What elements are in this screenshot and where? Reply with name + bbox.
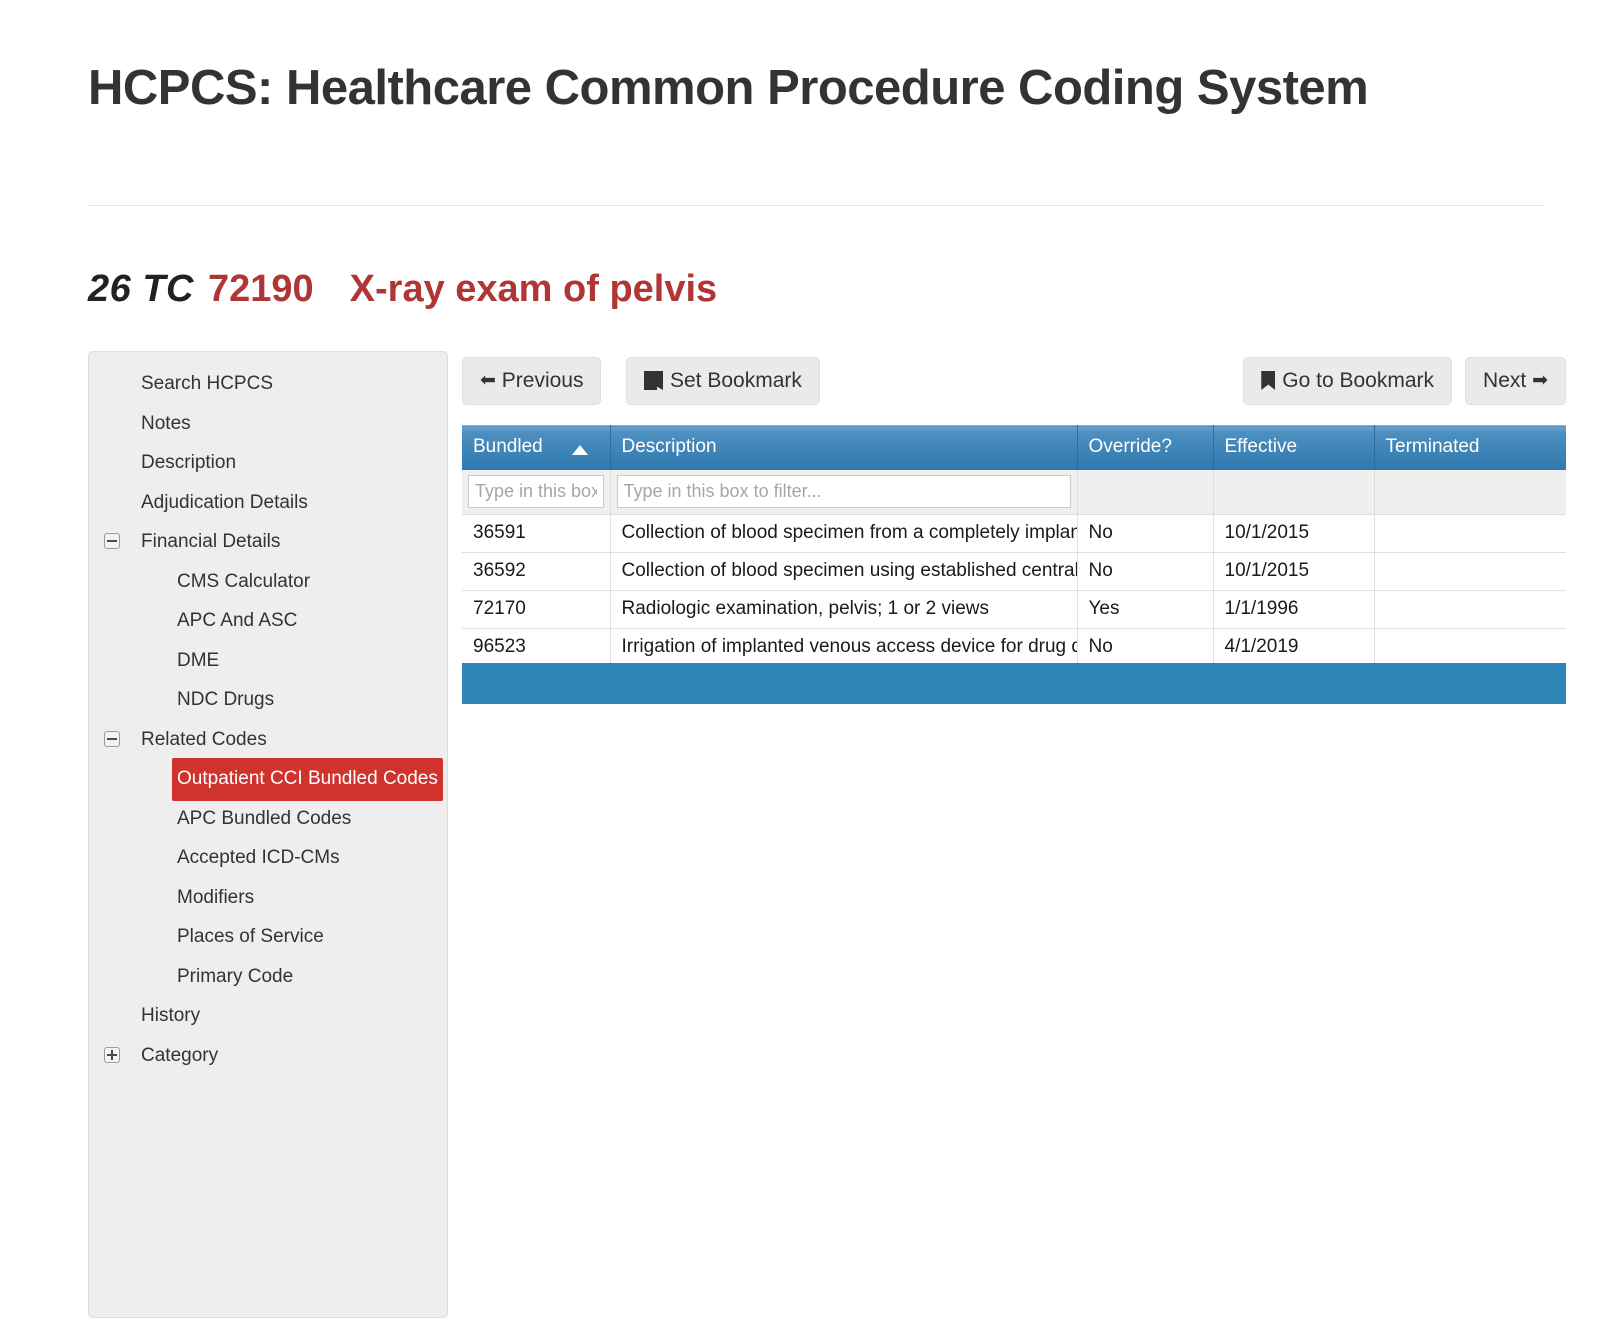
sidebar-item-label: Modifiers [172, 877, 259, 920]
previous-button[interactable]: ⬅ Previous [462, 357, 601, 405]
goto-bookmark-button-label: Go to Bookmark [1282, 369, 1434, 392]
sidebar-item-modifiers[interactable]: Modifiers [89, 877, 447, 917]
table-row[interactable]: 96523Irrigation of implanted venous acce… [462, 628, 1566, 666]
sidebar-item-label: Primary Code [172, 956, 298, 999]
sidebar-item-search-hcpcs[interactable]: Search HCPCS [89, 363, 447, 403]
sidebar-item-label: APC Bundled Codes [172, 798, 356, 841]
cell-override: No [1077, 514, 1213, 552]
sidebar-item-outpatient-cci-bundled-codes[interactable]: Outpatient CCI Bundled Codes [89, 758, 447, 798]
bookmark-icon [1261, 371, 1275, 390]
table-row[interactable]: 36592Collection of blood specimen using … [462, 552, 1566, 590]
cell-terminated [1374, 514, 1566, 552]
cell-description: Irrigation of implanted venous access de… [610, 628, 1077, 666]
sidebar-item-label: CMS Calculator [172, 561, 315, 604]
cell-effective: 4/1/2019 [1213, 628, 1374, 666]
sidebar-item-label: Category [136, 1035, 223, 1078]
cell-bundled: 36592 [462, 552, 610, 590]
goto-bookmark-button[interactable]: Go to Bookmark [1243, 357, 1452, 405]
cell-effective: 1/1/1996 [1213, 590, 1374, 628]
column-header-terminated[interactable]: Terminated [1374, 426, 1566, 470]
sidebar-item-notes[interactable]: Notes [89, 403, 447, 443]
sidebar-nav: Search HCPCSNotesDescriptionAdjudication… [88, 351, 448, 1318]
arrow-left-icon: ⬅ [480, 370, 496, 391]
cell-bundled: 96523 [462, 628, 610, 666]
sidebar-item-label: DME [172, 640, 224, 683]
cell-effective: 10/1/2015 [1213, 552, 1374, 590]
sidebar-item-primary-code[interactable]: Primary Code [89, 956, 447, 996]
column-header-label: Bundled [473, 436, 543, 457]
column-header-label: Description [622, 436, 717, 457]
cell-effective: 10/1/2015 [1213, 514, 1374, 552]
column-header-label: Effective [1225, 436, 1298, 457]
filter-cell-empty [1077, 470, 1213, 515]
table-header-row: BundledDescriptionOverride?EffectiveTerm… [462, 426, 1566, 470]
column-header-label: Terminated [1386, 436, 1480, 457]
cell-description: Collection of blood specimen from a comp… [610, 514, 1077, 552]
column-header-effective[interactable]: Effective [1213, 426, 1374, 470]
cell-description: Collection of blood specimen using estab… [610, 552, 1077, 590]
table-footer-bar [462, 663, 1566, 704]
cell-terminated [1374, 552, 1566, 590]
sidebar-item-accepted-icd-cms[interactable]: Accepted ICD-CMs [89, 837, 447, 877]
sidebar-item-apc-bundled-codes[interactable]: APC Bundled Codes [89, 798, 447, 838]
filter-cell-empty [1213, 470, 1374, 515]
collapse-minus-icon[interactable] [104, 533, 120, 549]
sidebar-item-label: APC And ASC [172, 600, 302, 643]
table-head: BundledDescriptionOverride?EffectiveTerm… [462, 426, 1566, 515]
sidebar-item-dme[interactable]: DME [89, 640, 447, 680]
sidebar-item-financial-details[interactable]: Financial Details [89, 521, 447, 561]
page-root: HCPCS: Healthcare Common Procedure Codin… [0, 0, 1604, 1342]
column-header-label: Override? [1089, 436, 1172, 457]
collapse-minus-icon[interactable] [104, 731, 120, 747]
code-heading: 26 TC72190X-ray exam of pelvis [88, 268, 717, 311]
cell-terminated [1374, 590, 1566, 628]
table-row[interactable]: 36591Collection of blood specimen from a… [462, 514, 1566, 552]
table-filter-row [462, 470, 1566, 515]
next-button[interactable]: Next ➡ [1465, 357, 1566, 405]
column-header-bundled[interactable]: Bundled [462, 426, 610, 470]
column-header-override[interactable]: Override? [1077, 426, 1213, 470]
table-body: 36591Collection of blood specimen from a… [462, 514, 1566, 666]
sidebar-item-label: Related Codes [136, 719, 272, 762]
page-title: HCPCS: Healthcare Common Procedure Codin… [88, 58, 1388, 118]
sidebar-item-label: Notes [136, 403, 196, 446]
code-modifiers: 26 TC [88, 268, 194, 310]
cell-override: No [1077, 552, 1213, 590]
sidebar-item-label: Places of Service [172, 916, 329, 959]
sidebar-item-label: Outpatient CCI Bundled Codes [172, 758, 443, 801]
column-header-description[interactable]: Description [610, 426, 1077, 470]
sidebar-item-label: Adjudication Details [136, 482, 313, 525]
cell-bundled: 72170 [462, 590, 610, 628]
sidebar-item-category[interactable]: Category [89, 1035, 447, 1075]
sidebar-item-label: NDC Drugs [172, 679, 279, 722]
sidebar-item-label: Description [136, 442, 241, 485]
filter-input-description[interactable] [617, 475, 1071, 508]
arrow-right-icon: ➡ [1532, 370, 1548, 391]
filter-cell-empty [1374, 470, 1566, 515]
sidebar-item-label: History [136, 995, 205, 1038]
sidebar-item-places-of-service[interactable]: Places of Service [89, 916, 447, 956]
cell-override: No [1077, 628, 1213, 666]
sidebar-item-label: Accepted ICD-CMs [172, 837, 345, 880]
cell-bundled: 36591 [462, 514, 610, 552]
toolbar: ⬅ Previous Set Bookmark Go to Bookmark N… [462, 357, 1566, 407]
sidebar-item-ndc-drugs[interactable]: NDC Drugs [89, 679, 447, 719]
cell-terminated [1374, 628, 1566, 666]
sidebar-item-label: Financial Details [136, 521, 285, 564]
sidebar-item-cms-calculator[interactable]: CMS Calculator [89, 561, 447, 601]
sidebar-item-adjudication-details[interactable]: Adjudication Details [89, 482, 447, 522]
filter-cell [610, 470, 1077, 515]
title-divider [88, 205, 1545, 206]
cell-description: Radiologic examination, pelvis; 1 or 2 v… [610, 590, 1077, 628]
book-icon [644, 371, 663, 390]
sidebar-item-label: Search HCPCS [136, 363, 278, 406]
expand-plus-icon[interactable] [104, 1047, 120, 1063]
sidebar-item-description[interactable]: Description [89, 442, 447, 482]
code-description: X-ray exam of pelvis [350, 268, 718, 310]
code-number: 72190 [208, 268, 314, 310]
sort-ascending-icon [572, 445, 588, 455]
set-bookmark-button[interactable]: Set Bookmark [626, 357, 820, 405]
set-bookmark-button-label: Set Bookmark [670, 369, 802, 392]
bundled-codes-table: BundledDescriptionOverride?EffectiveTerm… [462, 425, 1566, 667]
sidebar-item-history[interactable]: History [89, 995, 447, 1035]
table-row[interactable]: 72170Radiologic examination, pelvis; 1 o… [462, 590, 1566, 628]
filter-cell [462, 470, 610, 515]
previous-button-label: Previous [502, 369, 584, 392]
next-button-label: Next [1483, 369, 1526, 392]
filter-input-bundled[interactable] [468, 475, 604, 508]
cell-override: Yes [1077, 590, 1213, 628]
sidebar-item-apc-and-asc[interactable]: APC And ASC [89, 600, 447, 640]
sidebar-item-related-codes[interactable]: Related Codes [89, 719, 447, 759]
